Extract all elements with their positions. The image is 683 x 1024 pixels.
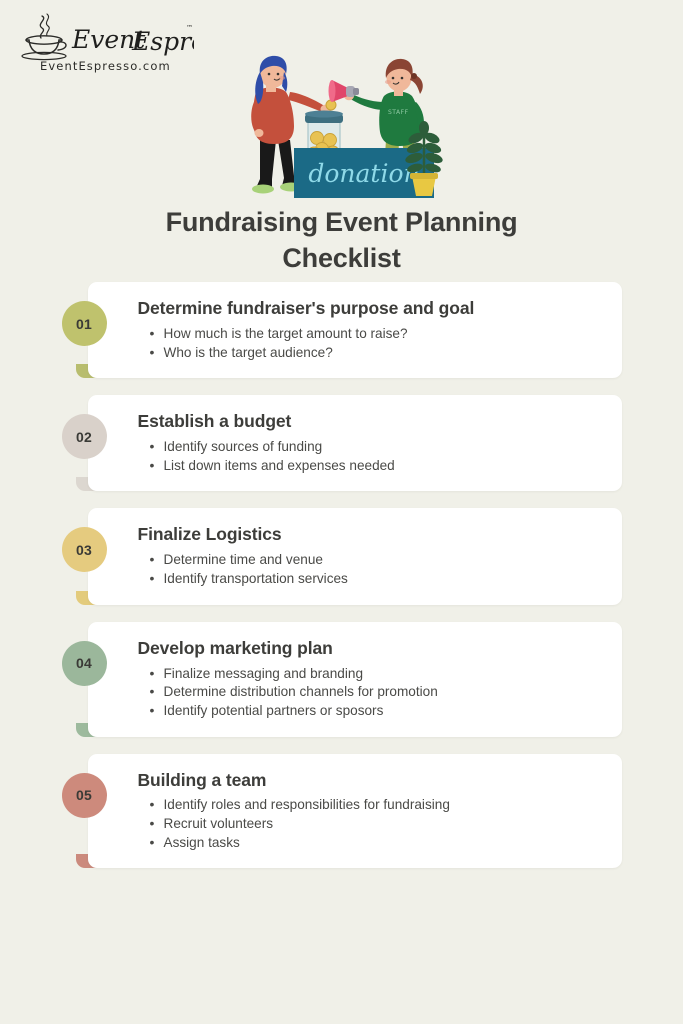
step-number-badge: 03 (62, 527, 107, 572)
checklist-step: 03Finalize LogisticsDetermine time and v… (62, 508, 622, 604)
step-card[interactable]: 03Finalize LogisticsDetermine time and v… (88, 508, 622, 604)
step-title: Building a team (138, 770, 602, 792)
step-number-badge: 02 (62, 414, 107, 459)
step-bullet-item: Identify transportation services (164, 570, 602, 589)
step-bullet-item: Determine time and venue (164, 551, 602, 570)
donation-table-label: donation (308, 159, 419, 188)
page-title-line1: Fundraising Event Planning (166, 207, 518, 237)
step-bullet-list: Identify sources of fundingList down ite… (138, 438, 602, 475)
checklist-step: 02Establish a budgetIdentify sources of … (62, 395, 622, 491)
step-bullet-item: Assign tasks (164, 834, 602, 853)
checklist-step: 04Develop marketing planFinalize messagi… (62, 622, 622, 737)
step-card[interactable]: 04Develop marketing planFinalize messagi… (88, 622, 622, 737)
step-card[interactable]: 01Determine fundraiser's purpose and goa… (88, 282, 622, 378)
step-bullet-item: Identify potential partners or sposors (164, 702, 602, 721)
step-title: Finalize Logistics (138, 524, 602, 546)
step-bullet-item: Determine distribution channels for prom… (164, 683, 602, 702)
step-title: Establish a budget (138, 411, 602, 433)
page-title-line2: Checklist (282, 243, 400, 273)
step-title: Develop marketing plan (138, 638, 602, 660)
step-number-badge: 05 (62, 773, 107, 818)
step-bullet-list: Finalize messaging and brandingDetermine… (138, 665, 602, 721)
step-bullet-list: Identify roles and responsibilities for … (138, 796, 602, 852)
brand-logo[interactable]: Event Espresso ™ EventEspresso.com (14, 12, 194, 74)
step-bullet-item: Recruit volunteers (164, 815, 602, 834)
step-card[interactable]: 02Establish a budgetIdentify sources of … (88, 395, 622, 491)
step-bullet-item: Identify sources of funding (164, 438, 602, 457)
step-bullet-item: Finalize messaging and branding (164, 665, 602, 684)
donation-event-illustration: STAFF donation (236, 52, 448, 198)
page-title: Fundraising Event Planning Checklist (0, 205, 683, 276)
svg-text:Espresso: Espresso (131, 27, 194, 56)
step-number-badge: 04 (62, 641, 107, 686)
staff-shirt-label: STAFF (388, 109, 409, 116)
checklist-step: 01Determine fundraiser's purpose and goa… (62, 282, 622, 378)
coffee-cup-icon: Event Espresso ™ (14, 12, 194, 62)
step-bullet-item: Who is the target audience? (164, 344, 602, 363)
step-number-badge: 01 (62, 301, 107, 346)
step-bullet-list: Determine time and venueIdentify transpo… (138, 551, 602, 588)
step-title: Determine fundraiser's purpose and goal (138, 298, 602, 320)
step-bullet-item: List down items and expenses needed (164, 457, 602, 476)
checklist-steps-list: 01Determine fundraiser's purpose and goa… (0, 282, 683, 885)
step-bullet-item: Identify roles and responsibilities for … (164, 796, 602, 815)
step-bullet-item: How much is the target amount to raise? (164, 325, 602, 344)
checklist-step: 05Building a teamIdentify roles and resp… (62, 754, 622, 869)
step-bullet-list: How much is the target amount to raise?W… (138, 325, 602, 362)
trademark-symbol: ™ (186, 24, 193, 32)
brand-domain: EventEspresso.com (40, 59, 171, 73)
step-card[interactable]: 05Building a teamIdentify roles and resp… (88, 754, 622, 869)
